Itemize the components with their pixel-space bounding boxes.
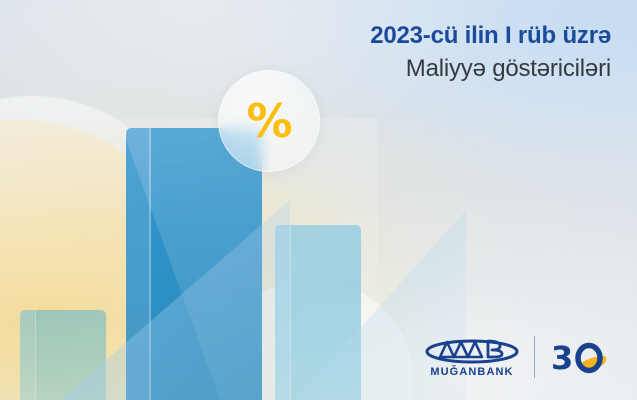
muganbank-logo: MUĞANBANK xyxy=(424,335,520,378)
chart-bar-1-highlight xyxy=(20,310,35,400)
chart-bar-2-highlight xyxy=(126,128,149,400)
headline-block: 2023-cü ilin I rüb üzrə Maliyyə göstəric… xyxy=(370,20,611,84)
financial-results-banner: % 2023-cü ilin I rüb üzrə Maliyyə göstər… xyxy=(0,0,637,400)
muganbank-wordmark: MUĞANBANK xyxy=(430,366,513,378)
percent-badge: % xyxy=(218,70,320,172)
chart-bar-2-stripe xyxy=(149,128,151,400)
thirty-years-badge-icon: 3 xyxy=(549,337,611,377)
chart-bar-3-highlight xyxy=(275,225,290,400)
logo-lockup: MUĞANBANK 3 xyxy=(424,335,611,378)
chart-bar-3 xyxy=(275,225,361,400)
chart-bar-2 xyxy=(126,128,262,400)
anniversary-badge: 3 xyxy=(549,337,611,377)
page-title: 2023-cü ilin I rüb üzrə xyxy=(370,20,611,51)
muganbank-monogram-icon xyxy=(424,335,520,365)
chart-bar-3-stripe xyxy=(290,225,292,400)
chart-bar-1 xyxy=(20,310,106,400)
logo-divider xyxy=(534,336,535,378)
percent-icon: % xyxy=(246,98,291,144)
page-subtitle: Maliyyə göstəriciləri xyxy=(370,53,611,84)
svg-text:3: 3 xyxy=(551,339,573,377)
chart-bar-1-stripe xyxy=(35,310,37,400)
